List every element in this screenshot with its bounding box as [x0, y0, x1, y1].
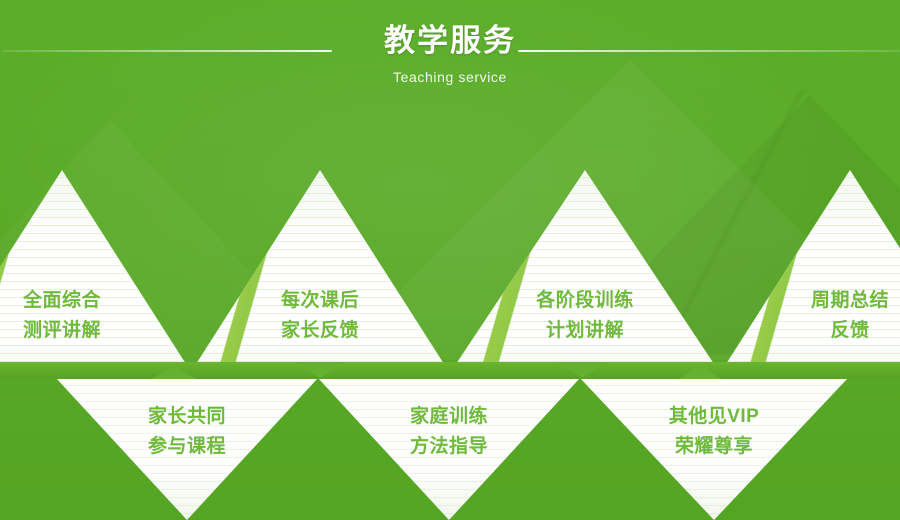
service-card-line1: 家长共同: [56, 402, 318, 432]
service-card-label: 家长共同参与课程: [56, 402, 318, 462]
service-card-label: 家庭训练方法指导: [318, 402, 580, 462]
teaching-service-banner: 教学服务 Teaching service 全面综合测评讲解每次课后家长反馈各阶…: [0, 0, 900, 520]
service-card-label: 全面综合测评讲解: [0, 286, 186, 346]
service-card-line2: 测评讲解: [0, 316, 186, 346]
service-card-line2: 家长反馈: [196, 316, 444, 346]
service-card-item-1[interactable]: 全面综合测评讲解: [0, 170, 186, 364]
service-card-line1: 各阶段训练: [456, 286, 714, 316]
service-card-line2: 荣耀尊享: [580, 432, 848, 462]
page-subtitle: Teaching service: [0, 70, 900, 84]
triangle-row-up: 全面综合测评讲解每次课后家长反馈各阶段训练计划讲解周期总结反馈: [0, 170, 900, 364]
service-card-line2: 计划讲解: [456, 316, 714, 346]
service-card-label: 每次课后家长反馈: [196, 286, 444, 346]
service-card-label: 周期总结反馈: [726, 286, 900, 346]
triangle-row-down: 家长共同参与课程家庭训练方法指导其他见VIP荣耀尊享: [0, 378, 900, 520]
band-notch-2: [556, 362, 608, 378]
service-card-item-3[interactable]: 各阶段训练计划讲解: [456, 170, 714, 364]
service-card-item-7[interactable]: 其他见VIP荣耀尊享: [580, 378, 848, 520]
band-notch-4: [678, 365, 722, 379]
mid-divider-band: [0, 362, 900, 379]
service-card-line1: 每次课后: [196, 286, 444, 316]
banner-header: 教学服务 Teaching service: [0, 0, 900, 104]
service-card-line1: 其他见VIP: [580, 402, 848, 432]
service-card-item-5[interactable]: 家长共同参与课程: [56, 378, 318, 520]
service-card-line1: 周期总结: [726, 286, 900, 316]
service-card-line1: 全面综合: [0, 286, 186, 316]
service-card-item-2[interactable]: 每次课后家长反馈: [196, 170, 444, 364]
service-card-line2: 参与课程: [56, 432, 318, 462]
band-notch-1: [294, 362, 346, 378]
band-notch-3: [152, 365, 196, 379]
service-card-line2: 反馈: [726, 316, 900, 346]
service-card-line2: 方法指导: [318, 432, 580, 462]
service-card-line1: 家庭训练: [318, 402, 580, 432]
service-card-item-4[interactable]: 周期总结反馈: [726, 170, 900, 364]
service-card-label: 各阶段训练计划讲解: [456, 286, 714, 346]
page-title: 教学服务: [0, 25, 900, 56]
service-card-label: 其他见VIP荣耀尊享: [580, 402, 848, 462]
service-card-item-6[interactable]: 家庭训练方法指导: [318, 378, 580, 520]
